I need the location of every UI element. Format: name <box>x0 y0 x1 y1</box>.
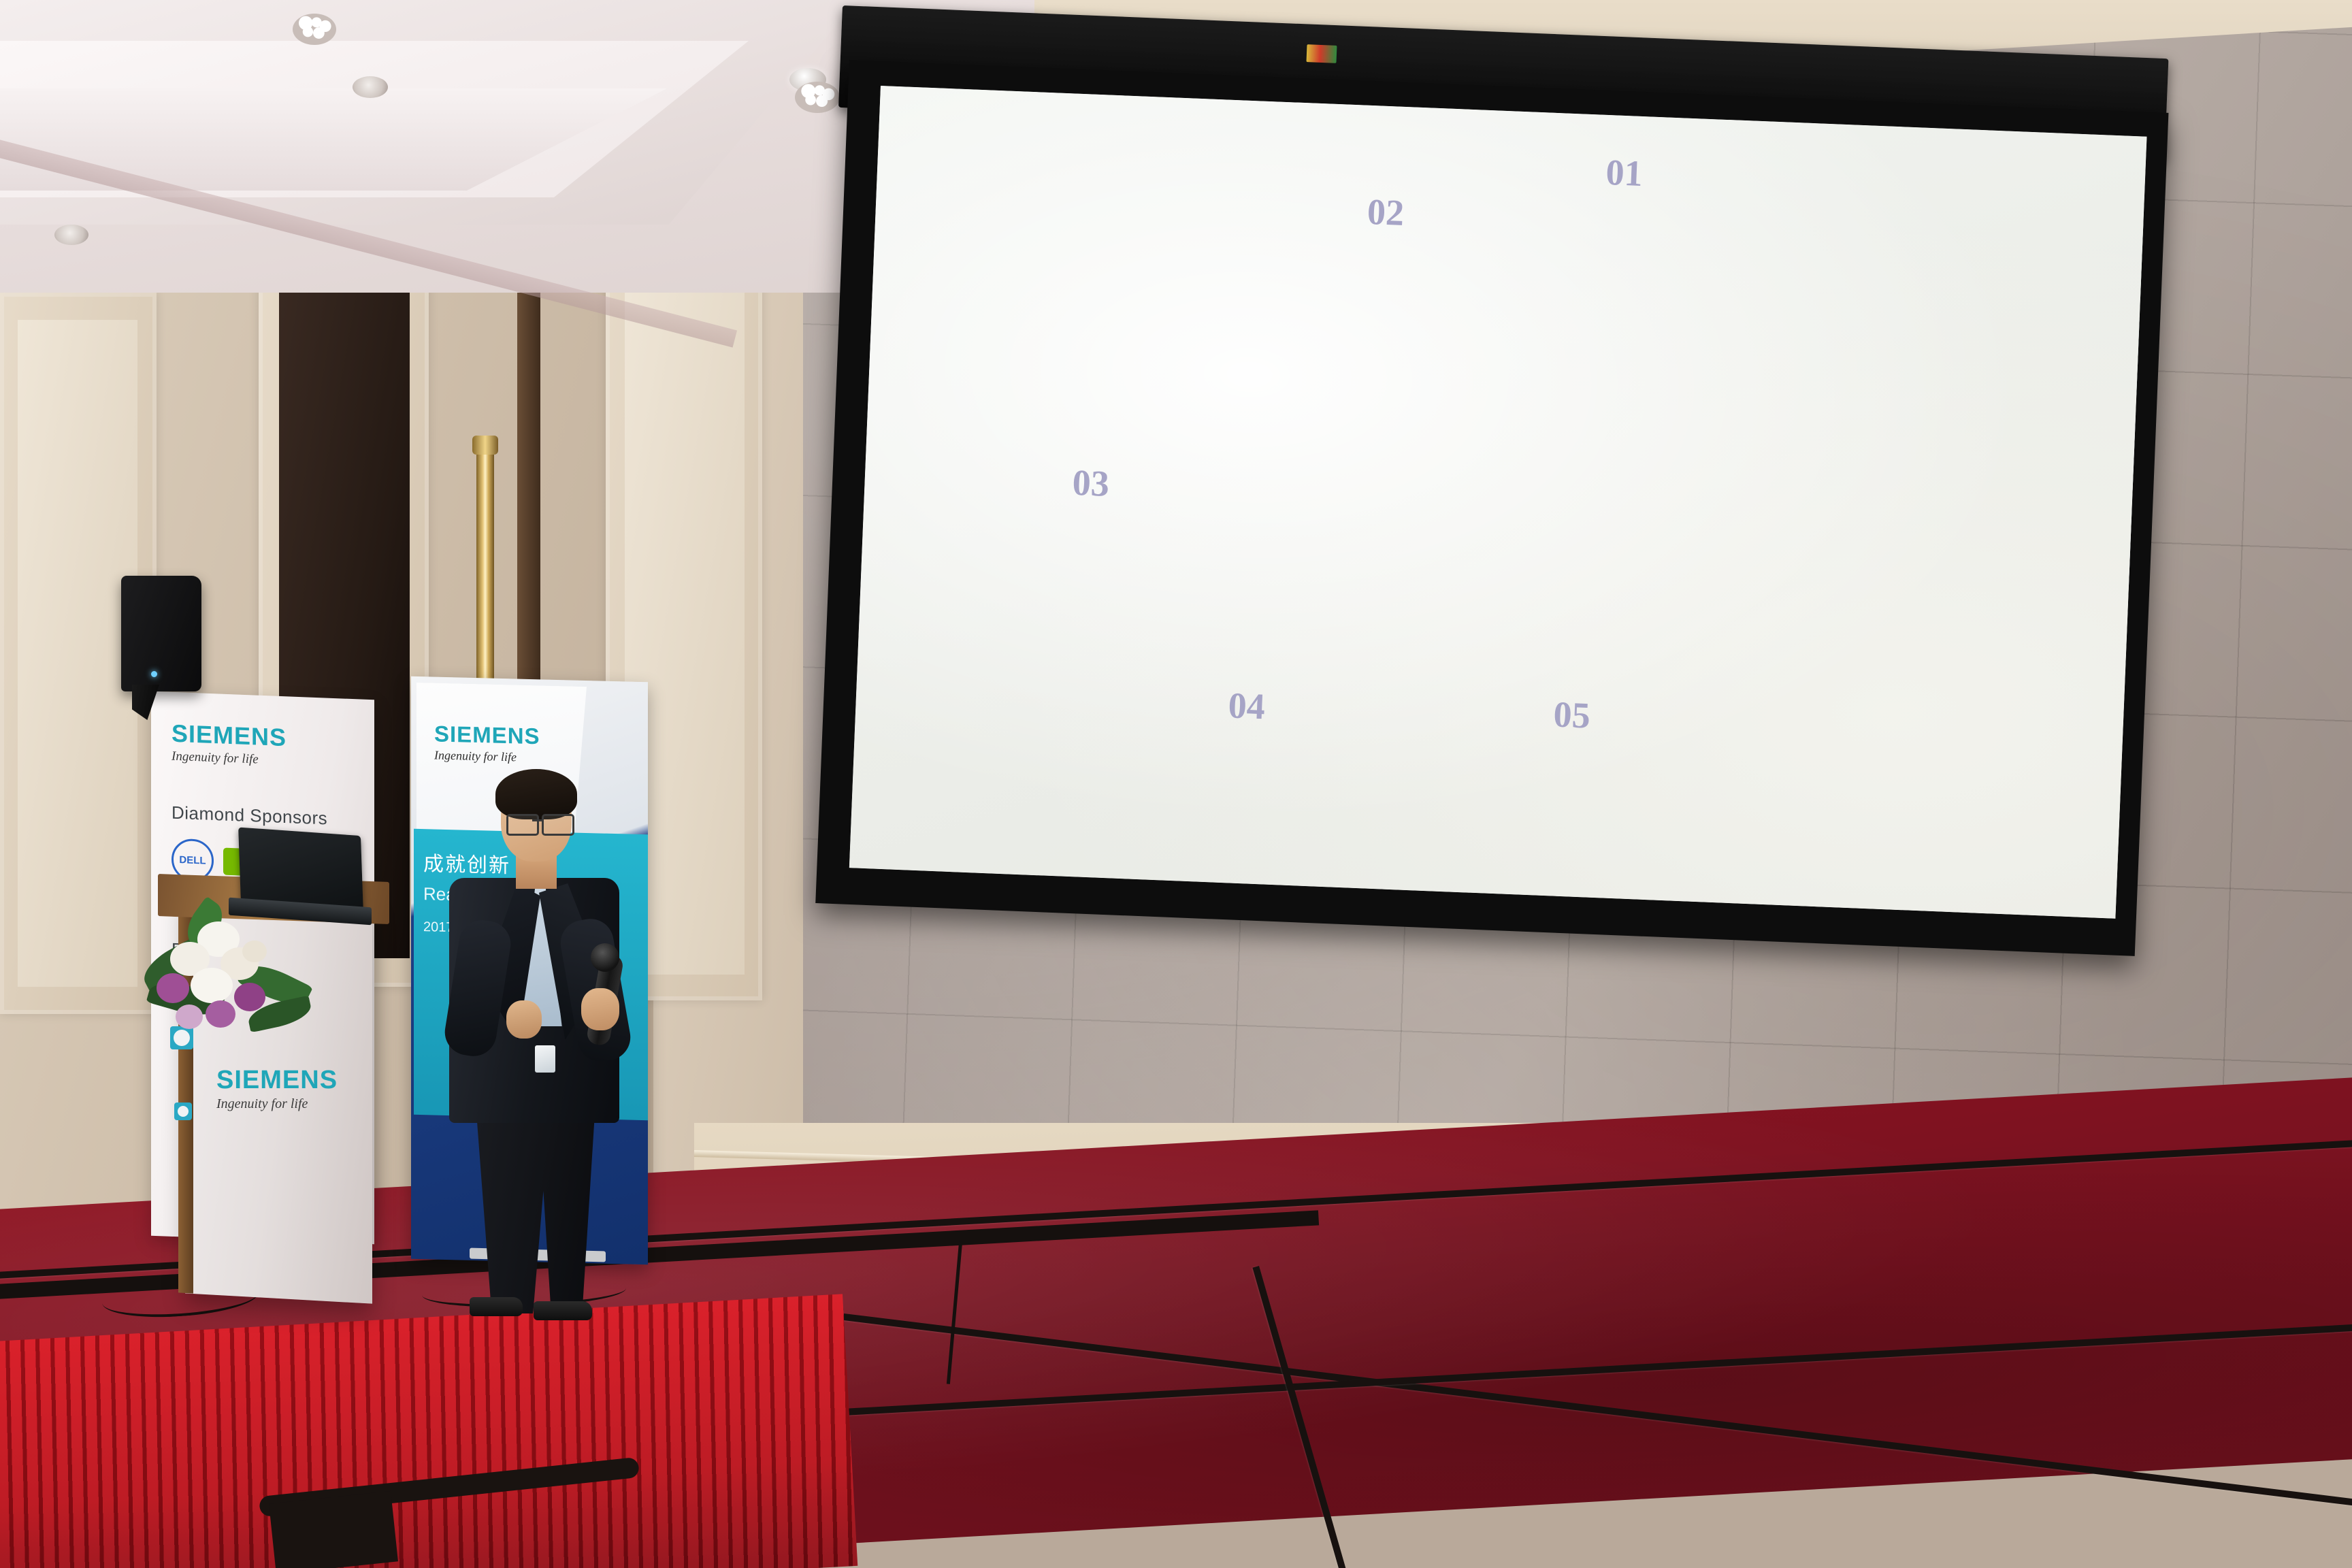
siemens-logo-block: SIEMENS Ingenuity for life <box>1818 140 1978 206</box>
presenter <box>436 776 626 1307</box>
certificate-zhongguancun-seed <box>1286 369 1432 479</box>
downlight-icon-3 <box>54 225 88 245</box>
slide-title: 公司资质 <box>975 245 1107 292</box>
presenter-badge <box>535 1045 555 1073</box>
slide-chevron-3: 知识产权 <box>1805 401 2146 491</box>
patent-certificate-1 <box>917 364 1023 491</box>
ceiling-led-grid-icon <box>293 14 336 45</box>
ceiling-led-grid-icon-2 <box>795 82 840 113</box>
presenter-legs <box>471 1109 600 1313</box>
slide-tagline: 发现一颗永不止步的心 <box>1842 798 2102 841</box>
node-stem-04-elbow <box>1209 566 1259 578</box>
certificate-small-01a <box>1458 417 1566 545</box>
rollup-banner-brand: SIEMENS <box>434 721 577 750</box>
floral-arrangement <box>140 905 317 1048</box>
slide-chevron-2: 高科技 <box>1809 306 2147 395</box>
certificate-icons-row <box>1438 174 1583 261</box>
node-label-04: 04 <box>1228 684 1266 728</box>
certificate-council-member <box>1285 272 1423 366</box>
node-label-05: 05 <box>1552 693 1590 736</box>
certificate-siemens-qualified-supplier <box>1666 555 1852 821</box>
chevron-label-4: 创新基金 <box>1996 522 2123 566</box>
conference-hall-scene: 基本资质 高科技 知识产权 创新基金 ISO9001 <box>0 0 2352 1568</box>
chevron-label-3: 知识产权 <box>2000 427 2127 472</box>
lectern-logo: SIEMENS Ingenuity for life <box>216 1066 353 1112</box>
speaker-power-led-icon <box>151 671 157 677</box>
siemens-tagline: Ingenuity for life <box>1829 176 1966 199</box>
lectern-tagline: Ingenuity for life <box>216 1096 353 1112</box>
brass-pole-cap <box>472 436 498 455</box>
eyeglasses-left-icon <box>506 814 539 836</box>
slide-logo-group: D SIEMENS Ingenuity for life 最专业的西门子MES实 <box>1692 135 2090 246</box>
chevron-label-2: 高科技 <box>2035 333 2130 376</box>
presenter-hand-right <box>581 988 619 1030</box>
eyeglasses-bridge-icon <box>532 819 543 821</box>
slide-logo-chinese-subtitle: 最专业的西门子MES实施商 <box>1785 208 2087 299</box>
presenter-shoe-right <box>534 1301 592 1320</box>
slide-stat-label: 多项专利及软著 <box>1024 678 1311 747</box>
certificate-beijing-sci-tech <box>1275 565 1578 802</box>
door-panel-left <box>18 320 137 987</box>
slide-canvas: 基本资质 高科技 知识产权 创新基金 ISO9001 <box>849 86 2147 919</box>
ribbon-feed-3 <box>1656 400 1822 472</box>
rollup-banner-logo: SIEMENS Ingenuity for life <box>434 721 577 766</box>
do-wordmark: D <box>1693 136 1738 200</box>
case-sticker-icon <box>1306 44 1337 63</box>
presenter-hair <box>495 769 577 819</box>
patent-certificate-3 <box>1134 348 1239 475</box>
patent-certificate-6 <box>1128 473 1234 600</box>
siemens-wordmark: SIEMENS <box>1829 144 1967 180</box>
slide-stat-number: 30 <box>955 668 1021 738</box>
presenter-shoe-left <box>470 1297 523 1316</box>
node-label-02: 02 <box>1367 191 1405 234</box>
node-label-01: 01 <box>1605 151 1644 195</box>
stage-skirt <box>0 1294 857 1568</box>
eyeglasses-right-icon <box>542 814 574 836</box>
projection-screen-surface: 基本资质 高科技 知识产权 创新基金 ISO9001 <box>849 86 2147 919</box>
lectern-small-icon-2 <box>174 1102 192 1120</box>
stage-step-post <box>269 1491 398 1568</box>
node-stem-05 <box>1570 536 1586 686</box>
slide-chevron-4: 创新基金 <box>1801 496 2144 586</box>
patent-certificate-4 <box>913 489 1018 616</box>
slide-footer-copyright: Restricted © DoDiscovery 2017 <box>953 770 1182 798</box>
bearing-ring-logo-icon <box>1736 137 1804 205</box>
certificate-internet-industry <box>1433 266 1579 368</box>
lectern-brand: SIEMENS <box>216 1066 353 1095</box>
diamond-sponsors-heading: Diamond Sponsors <box>171 802 362 831</box>
downlight-icon-4 <box>353 76 388 98</box>
wall-loudspeaker <box>121 576 201 691</box>
node-label-03: 03 <box>1072 461 1110 505</box>
presenter-hand-left <box>506 1000 542 1039</box>
